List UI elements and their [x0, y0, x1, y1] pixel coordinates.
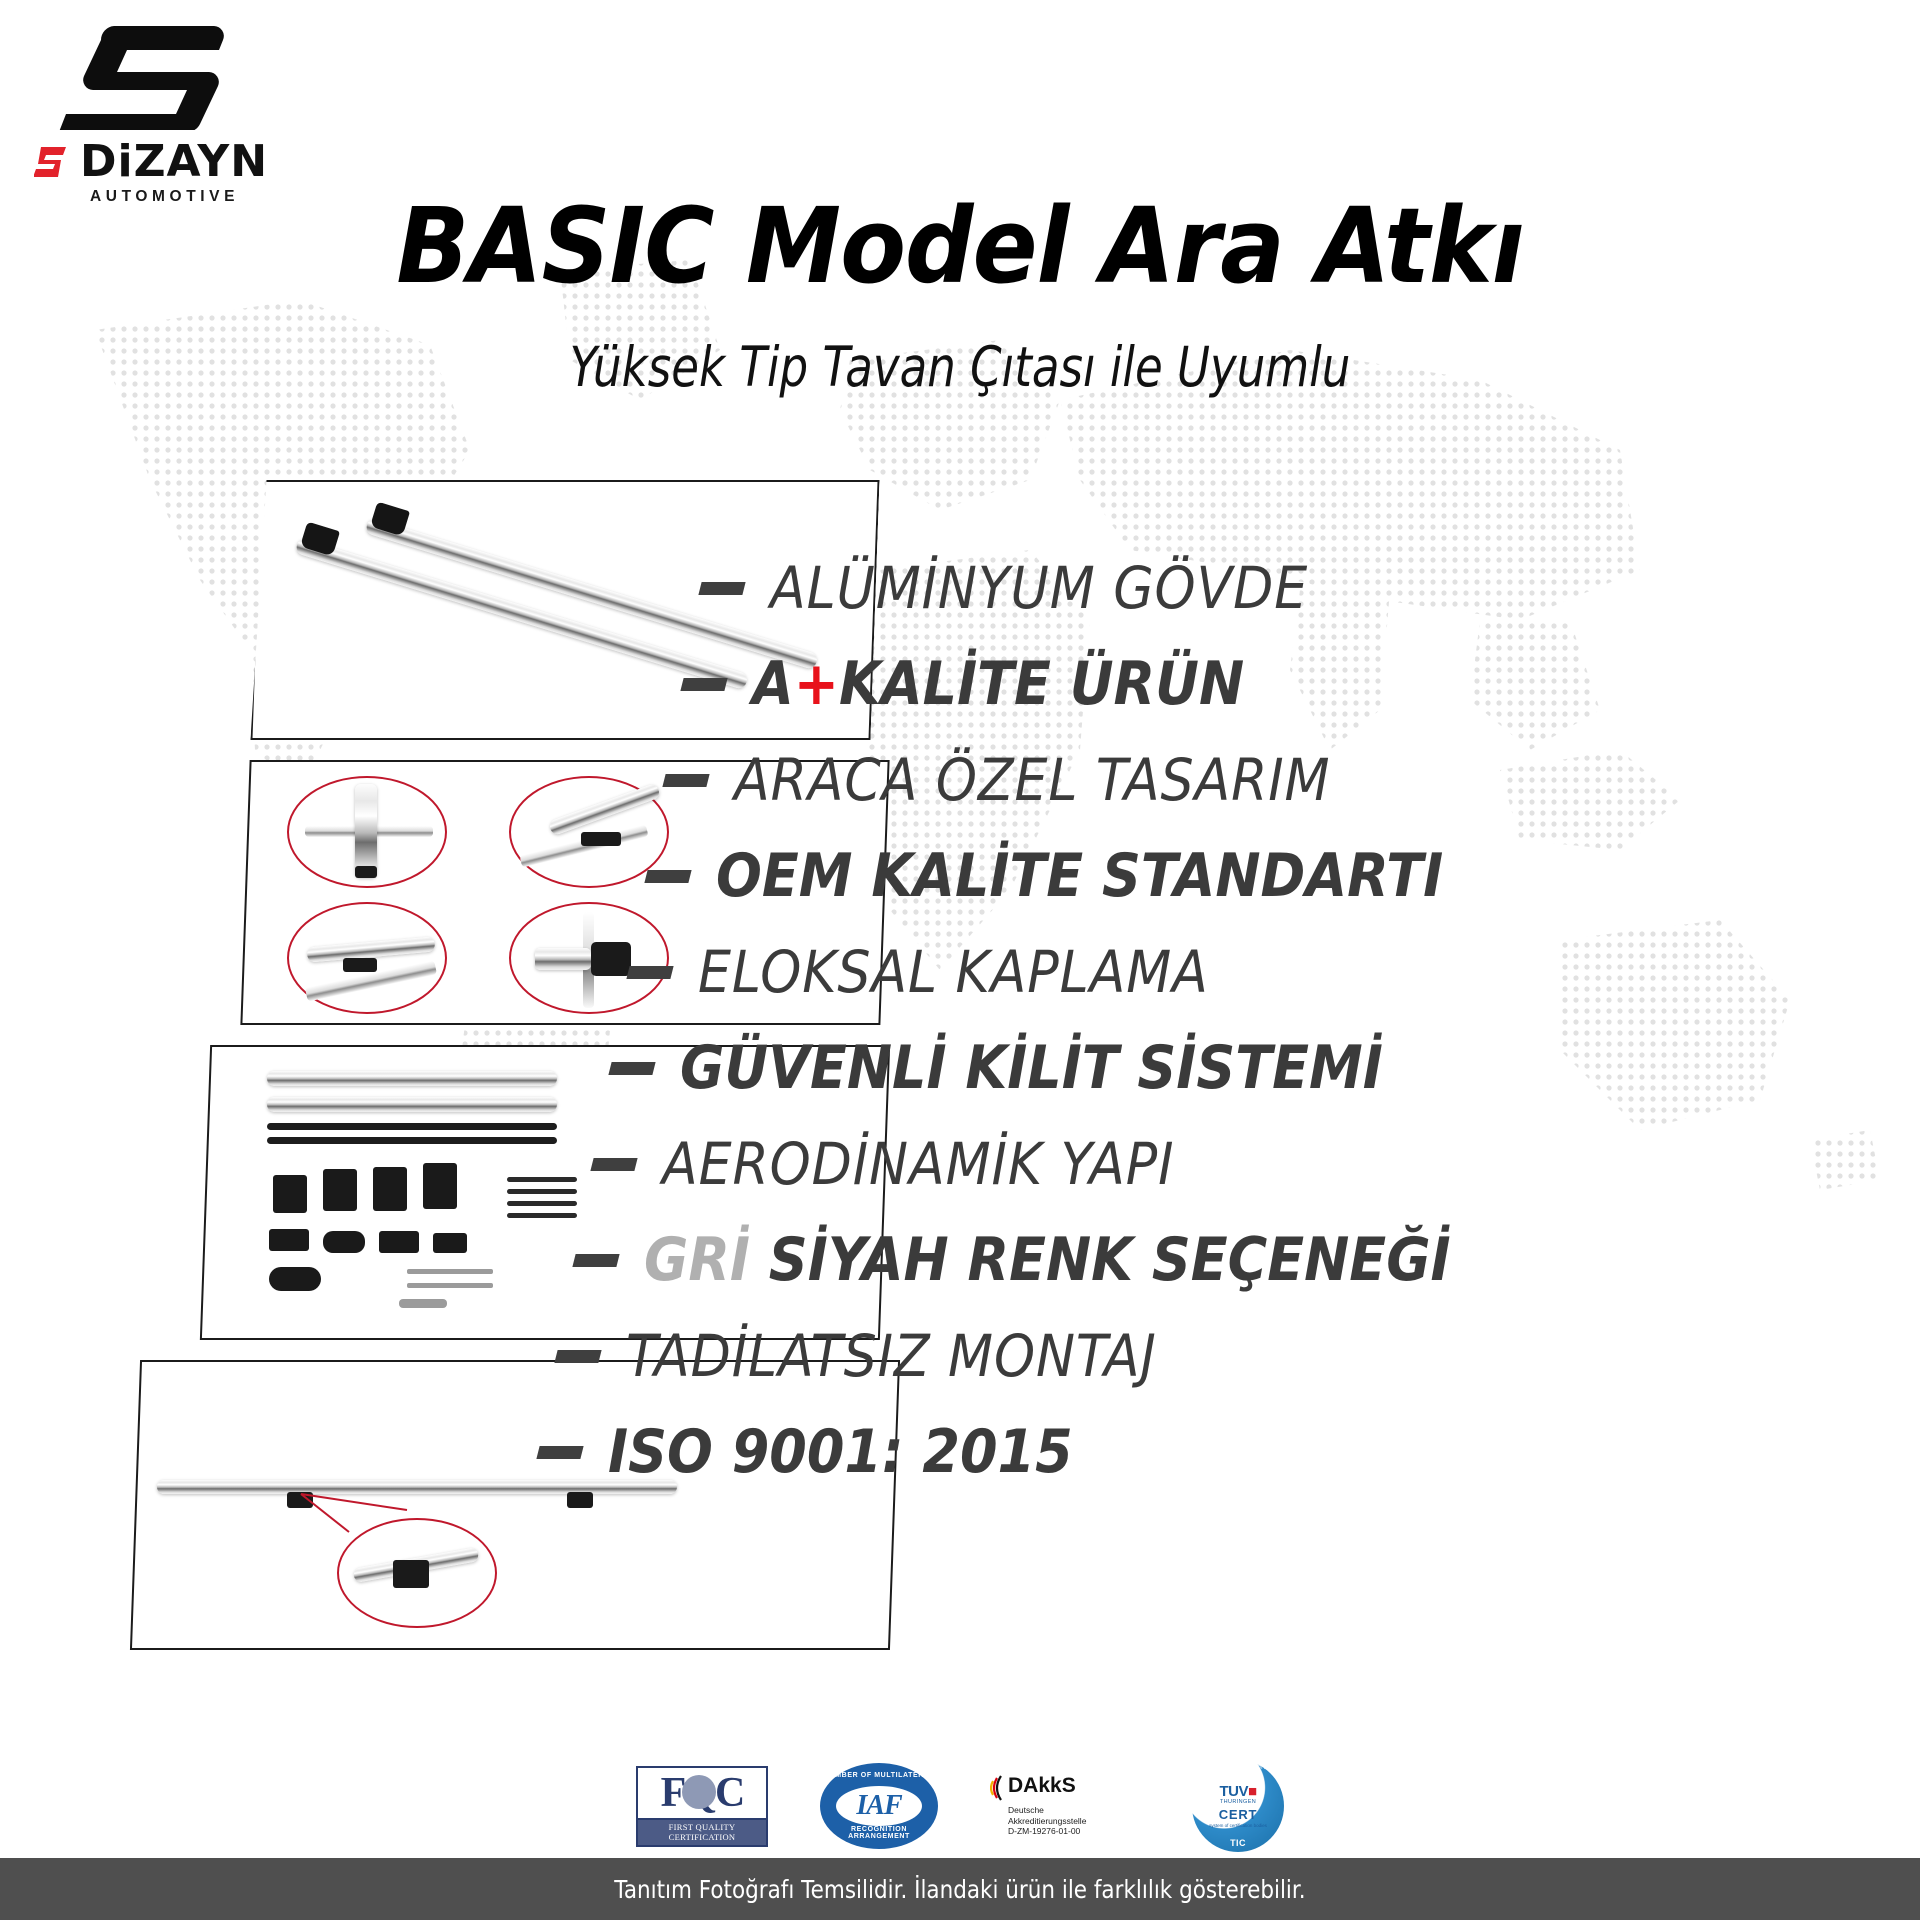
- cert-iaf-logo: MEMBER OF MULTILATERAL IAF RECOGNITION A…: [820, 1763, 938, 1849]
- bullet-dash-icon: [662, 774, 709, 787]
- feature-label: ISO 9001: 2015: [608, 1422, 1073, 1482]
- feature-list: ALÜMİNYUM GÖVDE A+KALİTE ÜRÜN ARACA ÖZEL…: [700, 540, 1900, 1500]
- feature-item-a-plus-kalite-urun: A+KALİTE ÜRÜN: [682, 636, 1900, 732]
- bullet-dash-icon: [626, 966, 673, 979]
- feature-label: ELOKSAL KAPLAMA: [698, 943, 1209, 1001]
- feature-text-post: KALİTE ÜRÜN: [839, 649, 1244, 719]
- tuv-mark: TUV■: [1219, 1784, 1256, 1799]
- iaf-letters: IAF: [856, 1790, 901, 1822]
- feature-label: ARACA ÖZEL TASARIM: [734, 751, 1331, 809]
- cert-tuv-logo: CERTIFICATION ACCREDITATION TUV■ THURING…: [1192, 1760, 1284, 1852]
- bullet-dash-icon: [572, 1254, 619, 1267]
- feature-label: TADİLATSIZ MONTAJ: [626, 1327, 1157, 1385]
- dakks-name: DAkkS: [1008, 1775, 1076, 1796]
- feature-item-araca-ozel-tasarim: ARACA ÖZEL TASARIM: [664, 732, 1900, 828]
- feature-item-tadilatsiz-montaj: TADİLATSIZ MONTAJ: [556, 1308, 1900, 1404]
- iaf-arc-bottom: RECOGNITION ARRANGEMENT: [820, 1826, 938, 1840]
- feature-item-oem-kalite-standarti: OEM KALİTE STANDARTI: [646, 828, 1900, 924]
- tuv-system-text: system of certification bodies: [1209, 1823, 1267, 1829]
- bullet-dash-icon: [590, 1158, 637, 1171]
- feature-label: GRİ SİYAH RENK SEÇENEĞİ: [644, 1230, 1451, 1290]
- dakks-line-3: D-ZM-19276-01-00: [1008, 1826, 1140, 1837]
- bullet-dash-icon: [554, 1350, 601, 1363]
- feature-item-aerodinamik-yapi: AERODİNAMİK YAPI: [592, 1116, 1900, 1212]
- zoom-leader-lines: [287, 1490, 427, 1550]
- bullet-dash-icon: [608, 1062, 655, 1075]
- bullet-dash-icon: [644, 870, 691, 883]
- feature-item-aluminyum-govde: ALÜMİNYUM GÖVDE: [700, 540, 1900, 636]
- dakks-subtitle: Deutsche Akkreditierungsstelle D-ZM-1927…: [1008, 1805, 1140, 1837]
- footer-disclaimer: Tanıtım Fotoğrafı Temsilidir. İlandaki ü…: [614, 1875, 1305, 1904]
- feature-item-gri-siyah-renk-secenegi: GRİ SİYAH RENK SEÇENEĞİ: [574, 1212, 1900, 1308]
- feature-label: GÜVENLİ KİLİT SİSTEMİ: [680, 1038, 1383, 1098]
- globe-icon: [682, 1775, 716, 1809]
- plus-accent: +: [794, 649, 839, 719]
- feature-item-guvenli-kilit-sistemi: GÜVENLİ KİLİT SİSTEMİ: [610, 1020, 1900, 1116]
- fqc-subtitle: FIRST QUALITY CERTIFICATION: [636, 1820, 768, 1847]
- tuv-cert-word: CERT: [1219, 1808, 1258, 1821]
- gray-word-accent: GRİ: [644, 1225, 750, 1295]
- feature-item-eloksal-kaplama: ELOKSAL KAPLAMA: [628, 924, 1900, 1020]
- feature-label: ALÜMİNYUM GÖVDE: [770, 559, 1308, 617]
- certification-logos: FQC FIRST QUALITY CERTIFICATION MEMBER O…: [0, 1760, 1920, 1852]
- bullet-dash-icon: [680, 678, 727, 691]
- tuv-arc-bottom: TIC: [1192, 1838, 1284, 1848]
- tuv-region: THURINGEN: [1220, 1799, 1256, 1805]
- cert-fqc-logo: FQC FIRST QUALITY CERTIFICATION: [636, 1766, 768, 1847]
- feature-label: A+KALİTE ÜRÜN: [752, 654, 1244, 714]
- bullet-dash-icon: [698, 582, 745, 595]
- tuv-arc-top: CERTIFICATION ACCREDITATION: [1192, 1765, 1284, 1771]
- dakks-line-1: Deutsche: [1008, 1805, 1140, 1816]
- feature-text-rest: SİYAH RENK SEÇENEĞİ: [769, 1225, 1451, 1295]
- footer-bar: Tanıtım Fotoğrafı Temsilidir. İlandaki ü…: [0, 1858, 1920, 1920]
- dakks-line-2: Akkreditierungsstelle: [1008, 1816, 1140, 1827]
- feature-label: OEM KALİTE STANDARTI: [716, 846, 1443, 906]
- cert-dakks-logo: DAkkS Deutsche Akkreditierungsstelle D-Z…: [990, 1775, 1140, 1837]
- feature-item-iso-9001: ISO 9001: 2015: [538, 1404, 1900, 1500]
- feature-text-pre: A: [752, 649, 794, 719]
- iaf-arc-top: MEMBER OF MULTILATERAL: [820, 1772, 938, 1779]
- bullet-dash-icon: [536, 1446, 583, 1459]
- product-poster: DiZAYN AUTOMOTIVE BASIC Model Ara Atkı Y…: [0, 0, 1920, 1920]
- feature-label: AERODİNAMİK YAPI: [662, 1135, 1174, 1193]
- dakks-waves-icon: [990, 1775, 1004, 1801]
